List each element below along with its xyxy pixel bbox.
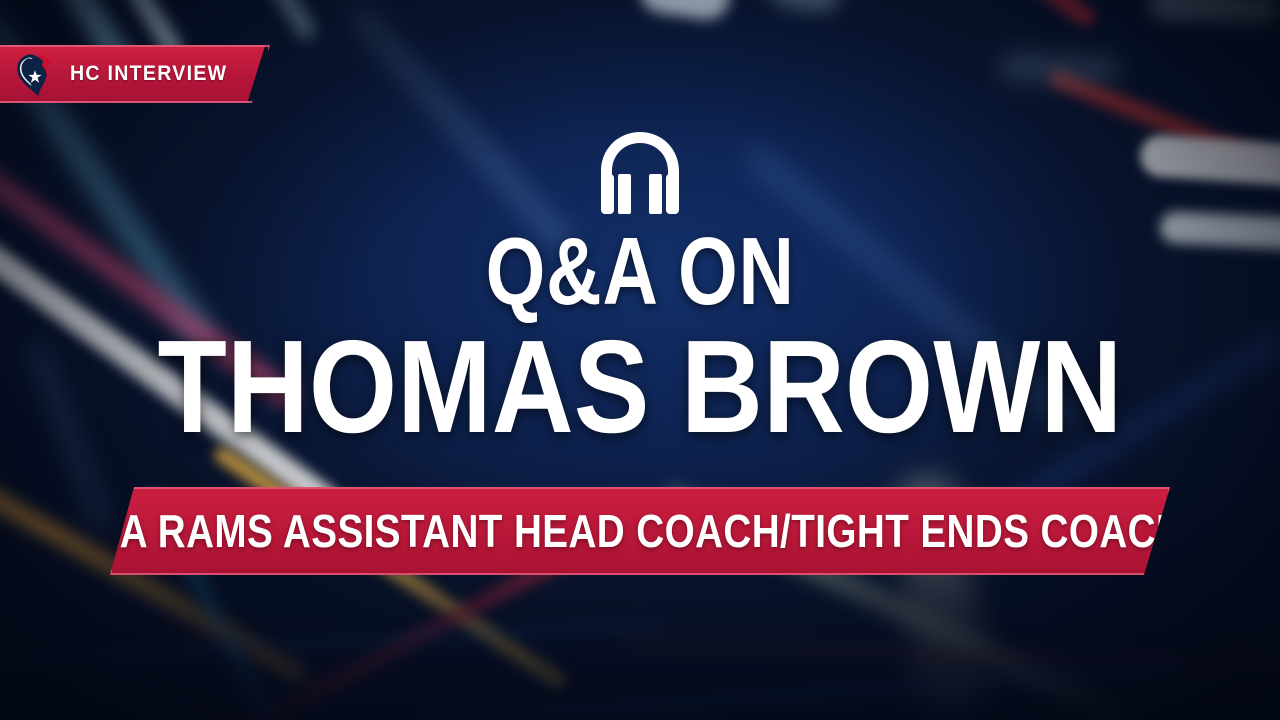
- headphones-icon: [594, 130, 686, 214]
- graphic-canvas: HC INTERVIEW Q&A ON THOMAS BROWN LA RAMS…: [0, 0, 1280, 720]
- subtitle-banner-text: LA RAMS ASSISTANT HEAD COACH/TIGHT ENDS …: [96, 504, 1185, 558]
- hero-headline: THOMAS BROWN: [158, 326, 1123, 447]
- subtitle-banner-wrap: LA RAMS ASSISTANT HEAD COACH/TIGHT ENDS …: [0, 487, 1280, 575]
- hero-block: Q&A ON THOMAS BROWN: [0, 0, 1280, 448]
- subtitle-banner: LA RAMS ASSISTANT HEAD COACH/TIGHT ENDS …: [110, 487, 1170, 575]
- hero-kicker: Q&A ON: [485, 228, 794, 316]
